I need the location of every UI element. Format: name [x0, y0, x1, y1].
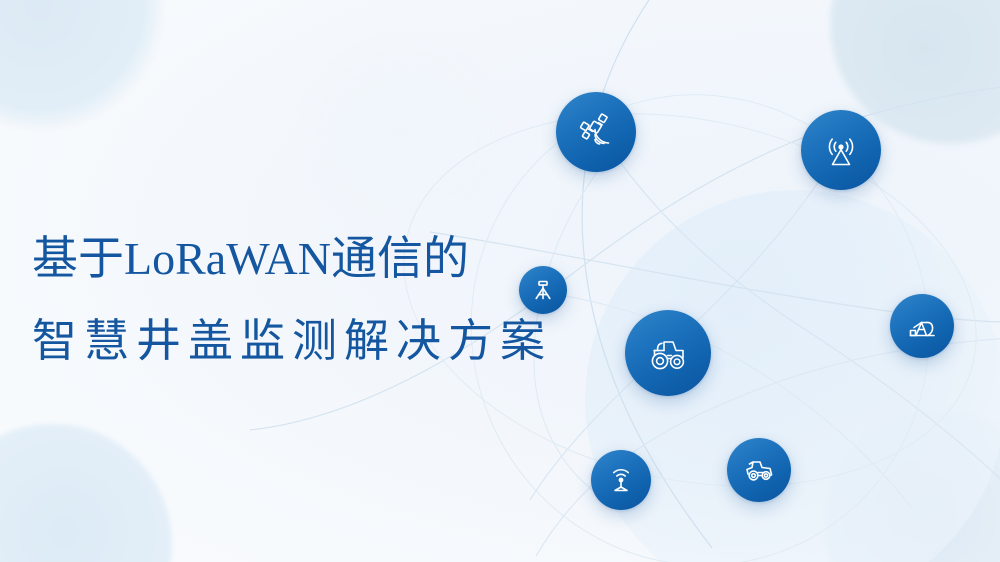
heavy-vehicle-icon: [740, 451, 778, 489]
node-satellite[interactable]: [556, 92, 636, 172]
node-heavy-vehicle[interactable]: [727, 438, 791, 502]
page-title-line-2: 智慧井盖监测解决方案: [32, 310, 572, 372]
background-blob-center: [300, 30, 500, 230]
node-oil-pumpjack[interactable]: [890, 294, 954, 358]
wireless-sensor-icon: [604, 463, 638, 497]
background-blob-bottom-left: [0, 424, 172, 562]
radio-tower-icon: [818, 127, 864, 173]
oil-pumpjack-icon: [904, 308, 940, 344]
title-block: 基于LoRaWAN通信的 智慧井盖监测解决方案: [32, 228, 572, 372]
node-tractor[interactable]: [625, 310, 711, 396]
tractor-icon: [643, 328, 693, 378]
node-wireless-sensor[interactable]: [591, 450, 651, 510]
slide-canvas: 基于LoRaWAN通信的 智慧井盖监测解决方案: [0, 0, 1000, 562]
satellite-signal-icon: [574, 110, 618, 154]
page-title-line-1: 基于LoRaWAN通信的: [32, 228, 572, 290]
background-blob-top-left: [0, 0, 164, 130]
background-blob-bottom-right: [824, 410, 1000, 562]
node-radio-tower[interactable]: [801, 110, 881, 190]
